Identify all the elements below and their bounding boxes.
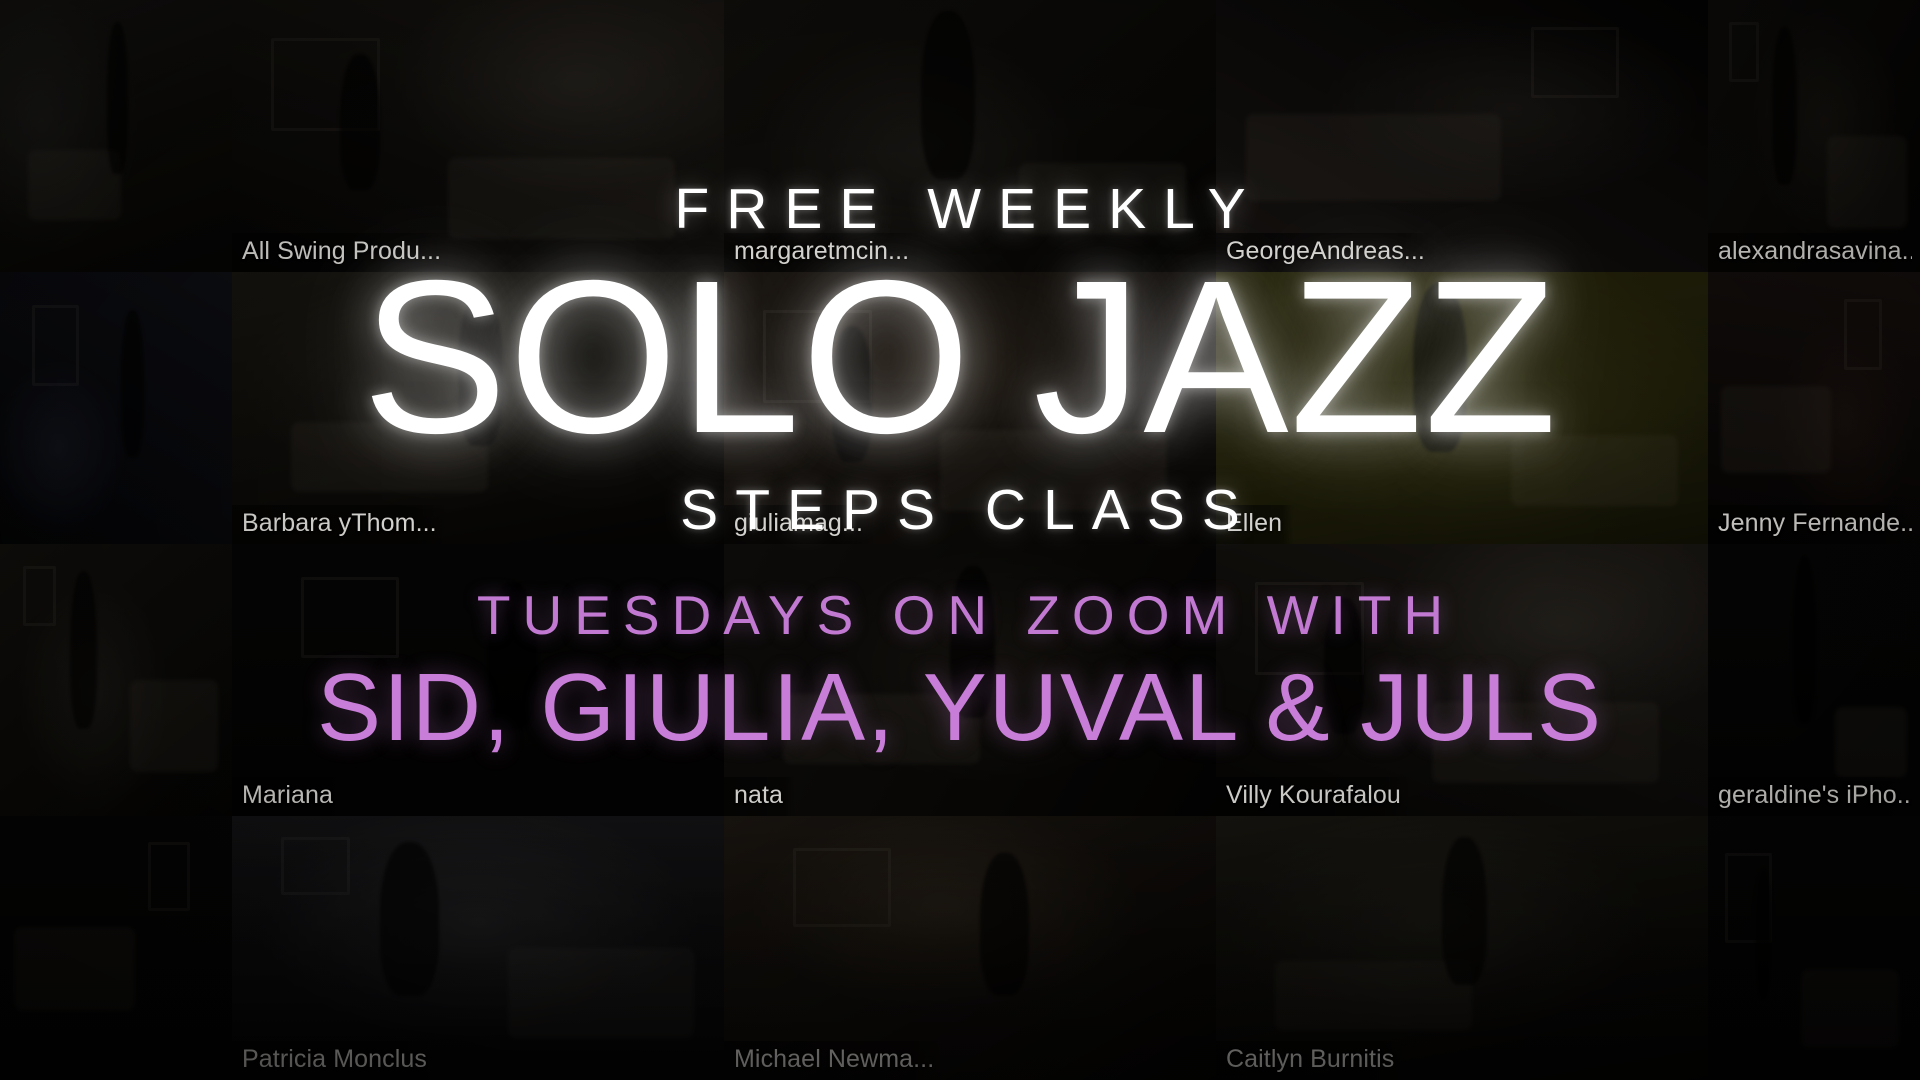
- participant-video: [1708, 272, 1920, 544]
- furniture-decor: [130, 680, 218, 772]
- furniture-decor: [1246, 114, 1502, 201]
- participant-name-label: Patricia Monclus: [232, 1041, 439, 1080]
- wall-frame-decor: [793, 848, 891, 927]
- furniture-decor: [1801, 969, 1899, 1048]
- furniture-decor: [508, 948, 695, 1038]
- participant-tile[interactable]: [0, 0, 232, 272]
- participant-tile[interactable]: All Swing Produ...: [232, 0, 724, 272]
- participant-tile[interactable]: Jenny Fernande...: [1708, 272, 1920, 544]
- participant-tile[interactable]: [0, 544, 232, 816]
- dancer-silhouette: [380, 842, 439, 995]
- participant-tile[interactable]: [0, 272, 232, 544]
- dancer-silhouette: [1442, 837, 1486, 985]
- participant-name-label: nata: [724, 777, 795, 816]
- furniture-decor: [14, 927, 135, 1011]
- wall-frame-decor: [1531, 27, 1620, 98]
- flyer-schedule: TUESDAYS ON ZOOM WITH: [465, 583, 1455, 647]
- dancer-silhouette: [107, 22, 128, 174]
- participant-name-label: Jenny Fernande...: [1708, 505, 1912, 544]
- flyer-eyebrow: FREE WEEKLY: [657, 176, 1262, 242]
- participant-name-label: alexandrasavina...: [1708, 233, 1912, 272]
- participant-video: [0, 816, 232, 1080]
- participant-name-label: Barbara yThom...: [232, 505, 449, 544]
- participant-name-label: geraldine's iPho...: [1708, 777, 1912, 816]
- participant-video: [0, 0, 232, 272]
- dancer-silhouette: [1772, 27, 1797, 185]
- wall-frame-decor: [281, 837, 350, 895]
- dancer-silhouette: [1793, 555, 1816, 724]
- participant-name-label: Mariana: [232, 777, 345, 816]
- furniture-decor: [1827, 136, 1908, 228]
- furniture-decor: [28, 150, 121, 221]
- dancer-silhouette: [121, 310, 144, 457]
- flyer-subtitle: STEPS CLASS: [663, 477, 1257, 543]
- participant-tile[interactable]: [1708, 816, 1920, 1080]
- wall-frame-decor: [148, 842, 190, 911]
- furniture-decor: [1275, 961, 1472, 1030]
- participant-name-label: Caitlyn Burnitis: [1216, 1041, 1406, 1080]
- wall-frame-decor: [32, 305, 78, 387]
- participant-tile[interactable]: Caitlyn Burnitis: [1216, 816, 1708, 1080]
- furniture-decor: [1835, 707, 1907, 778]
- dancer-silhouette: [980, 853, 1029, 996]
- participant-video: [232, 0, 724, 272]
- participant-video: [0, 544, 232, 816]
- wall-frame-decor: [23, 566, 55, 626]
- flyer-teachers: SID, GIULIA, YUVAL & JULS: [317, 653, 1603, 763]
- furniture-decor: [448, 158, 674, 240]
- wall-frame-decor: [1729, 22, 1759, 82]
- participant-video: [1708, 816, 1920, 1080]
- wall-frame-decor: [1844, 299, 1882, 370]
- participant-video: [1216, 0, 1708, 272]
- participant-name-label: Michael Newma...: [724, 1041, 946, 1080]
- participant-tile[interactable]: geraldine's iPho...: [1708, 544, 1920, 816]
- furniture-decor: [1721, 386, 1831, 473]
- wall-frame-decor: [301, 577, 399, 659]
- dancer-silhouette: [1755, 869, 1772, 1001]
- participant-tile[interactable]: GeorgeAndreas...: [1216, 0, 1708, 272]
- participant-name-label: Villy Kourafalou: [1216, 777, 1413, 816]
- flyer-stage: All Swing Produ...margaretmcin...GeorgeA…: [0, 0, 1920, 1080]
- participant-tile[interactable]: alexandrasavina...: [1708, 0, 1920, 272]
- participant-video: [1708, 544, 1920, 816]
- participant-tile[interactable]: [0, 816, 232, 1080]
- participant-tile[interactable]: Patricia Monclus: [232, 816, 724, 1080]
- dancer-silhouette: [340, 54, 379, 190]
- flyer-title: SOLO JAZZ: [362, 256, 1558, 461]
- dancer-silhouette: [921, 11, 975, 180]
- participant-tile[interactable]: Michael Newma...: [724, 816, 1216, 1080]
- participant-video: [0, 272, 232, 544]
- participant-video: [1708, 0, 1920, 272]
- dancer-silhouette: [70, 571, 98, 729]
